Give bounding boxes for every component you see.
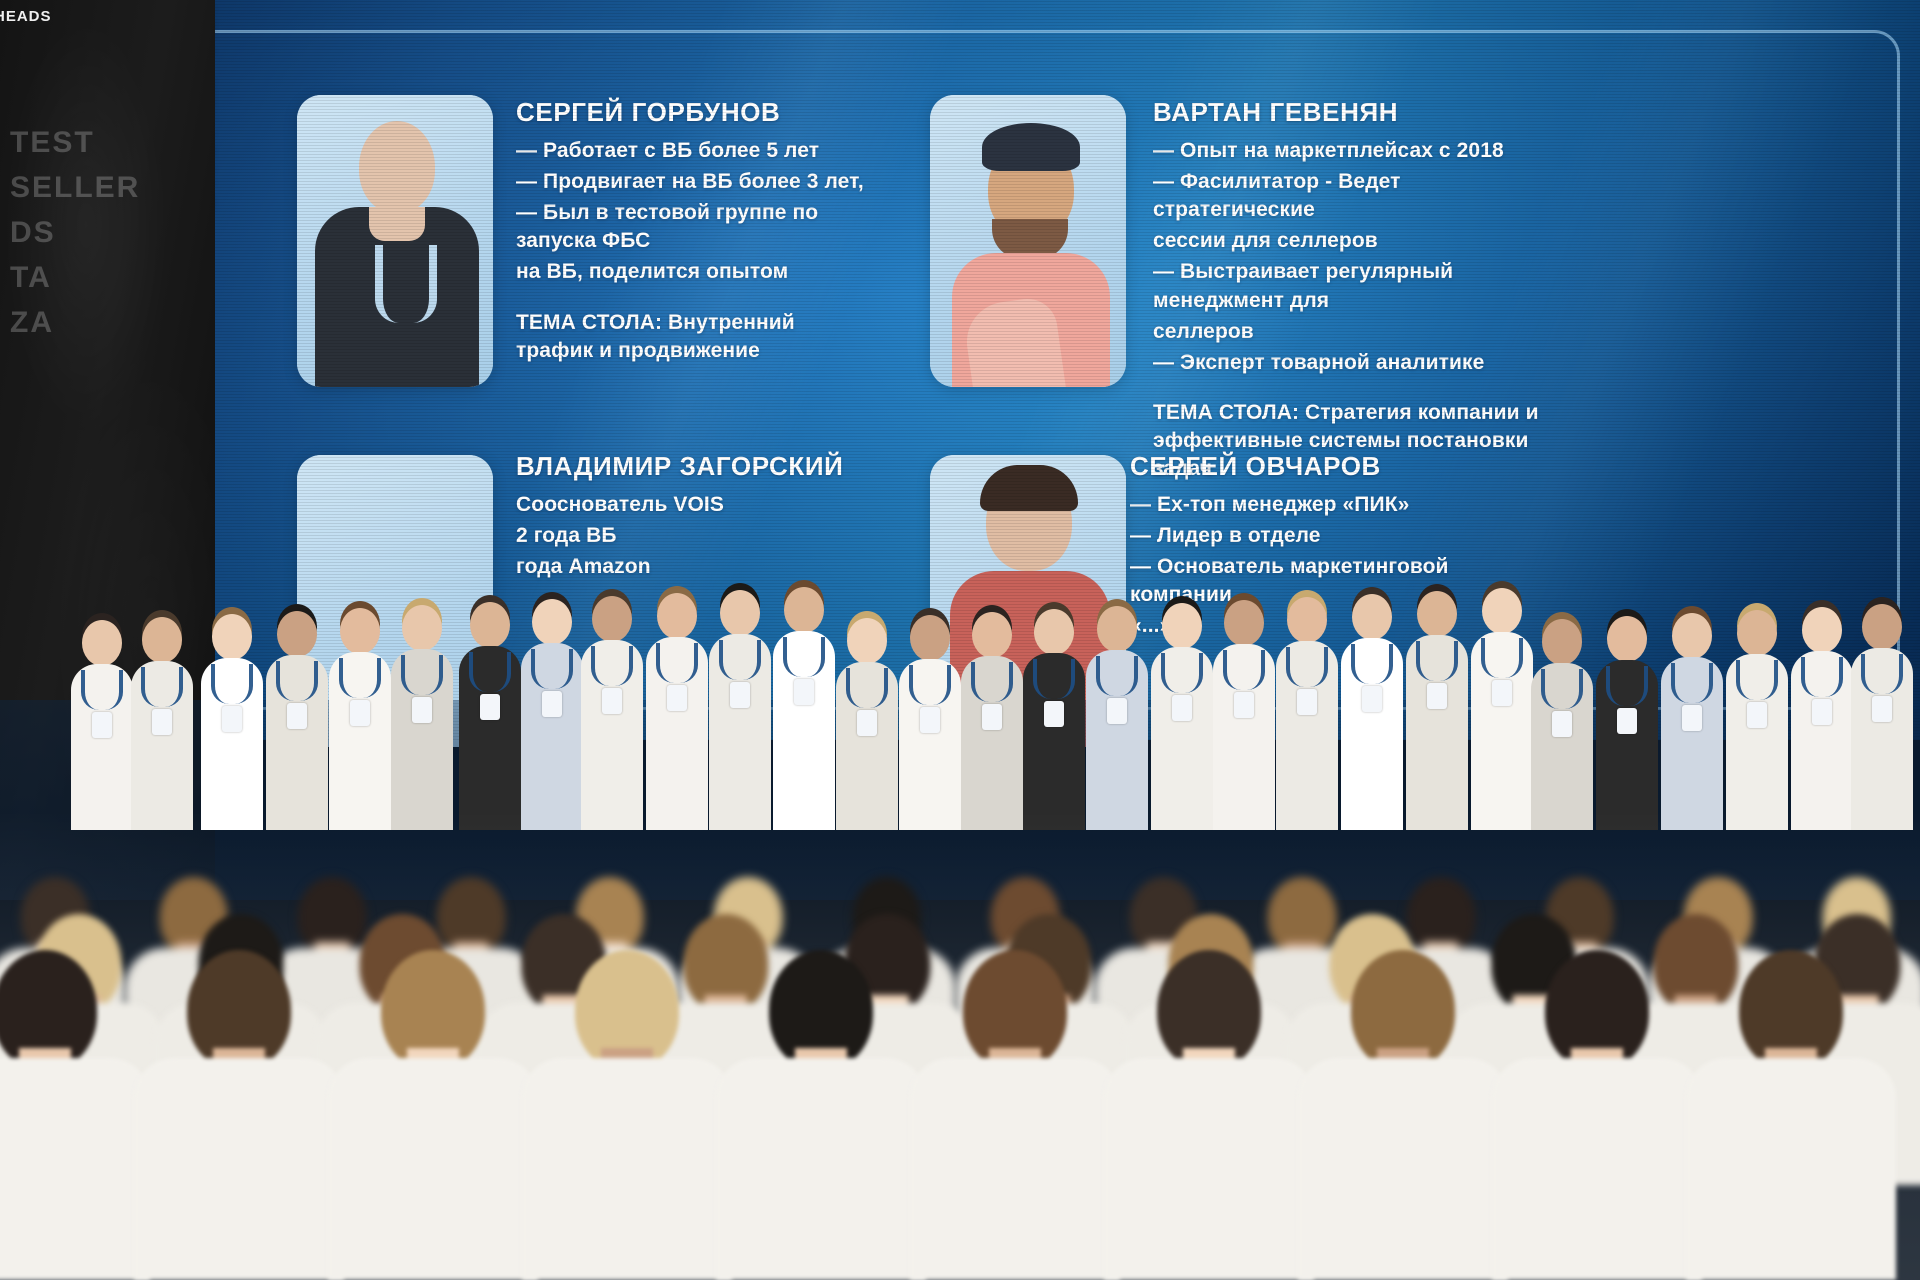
person-head xyxy=(1542,619,1582,665)
badge xyxy=(1427,683,1447,709)
lanyard xyxy=(81,670,123,710)
lanyard xyxy=(1286,647,1328,687)
lanyard xyxy=(719,640,761,680)
audience-person xyxy=(1492,950,1702,1280)
lanyard xyxy=(211,664,253,704)
lanyard xyxy=(531,649,573,689)
badge xyxy=(1492,680,1512,706)
badge xyxy=(602,688,622,714)
lanyard xyxy=(783,637,825,677)
badge xyxy=(730,682,750,708)
person-head xyxy=(1482,588,1522,634)
person-head xyxy=(1417,591,1457,637)
person-head xyxy=(212,614,252,660)
person-body xyxy=(1492,1058,1702,1280)
person-body xyxy=(716,1058,926,1280)
badge xyxy=(480,694,500,720)
badge xyxy=(542,691,562,717)
person-body xyxy=(1298,1058,1508,1280)
person-head xyxy=(82,620,122,666)
person-body xyxy=(0,1058,150,1280)
person-head xyxy=(532,599,572,645)
lanyard xyxy=(846,668,888,708)
lanyard xyxy=(276,661,318,701)
person-head xyxy=(720,590,760,636)
lanyard xyxy=(1736,660,1778,700)
audience-person xyxy=(328,950,538,1280)
lanyard xyxy=(141,667,183,707)
lanyard xyxy=(909,665,951,705)
lanyard xyxy=(591,646,633,686)
person-body xyxy=(522,1058,732,1280)
person-head xyxy=(470,602,510,648)
person-head xyxy=(847,618,887,664)
badge xyxy=(1234,692,1254,718)
person-head xyxy=(1034,609,1074,655)
person-head xyxy=(1162,603,1202,649)
lanyard xyxy=(469,652,511,692)
person-head xyxy=(277,611,317,657)
person-head xyxy=(657,593,697,639)
badge xyxy=(1362,686,1382,712)
person-head xyxy=(1097,606,1137,652)
person-body xyxy=(1686,1058,1896,1280)
person-head xyxy=(1802,607,1842,653)
person-body xyxy=(910,1058,1120,1280)
badge xyxy=(794,679,814,705)
lanyard xyxy=(1541,669,1583,709)
badge xyxy=(1172,695,1192,721)
lanyard xyxy=(1033,659,1075,699)
lanyard xyxy=(1161,653,1203,693)
wall-logo: HEADS xyxy=(0,8,52,25)
audience-person xyxy=(910,950,1120,1280)
person-head xyxy=(1737,610,1777,656)
lanyard xyxy=(401,655,443,695)
lanyard xyxy=(1416,641,1458,681)
audience-person xyxy=(0,950,150,1280)
person-body xyxy=(134,1058,344,1280)
badge xyxy=(1297,689,1317,715)
person-head xyxy=(1287,597,1327,643)
lanyard xyxy=(1671,663,1713,703)
audience-person xyxy=(134,950,344,1280)
person-head xyxy=(1224,600,1264,646)
audience-person xyxy=(1298,950,1508,1280)
lanyard xyxy=(656,643,698,683)
lanyard xyxy=(971,662,1013,702)
person-head xyxy=(1352,594,1392,640)
lanyard xyxy=(1223,650,1265,690)
person-body xyxy=(1104,1058,1314,1280)
person-head xyxy=(784,587,824,633)
lanyard xyxy=(1351,644,1393,684)
lanyard xyxy=(1096,656,1138,696)
person-head xyxy=(142,617,182,663)
audience-person xyxy=(1104,950,1314,1280)
person-head xyxy=(1862,604,1902,650)
person-head xyxy=(910,615,950,661)
badge xyxy=(667,685,687,711)
lanyard xyxy=(1861,654,1903,694)
person-body xyxy=(328,1058,538,1280)
audience-person xyxy=(716,950,926,1280)
audience-person xyxy=(1686,950,1896,1280)
person-head xyxy=(1672,613,1712,659)
lanyard xyxy=(1481,638,1523,678)
audience-rows xyxy=(0,720,1920,1280)
person-head xyxy=(402,605,442,651)
person-head xyxy=(972,612,1012,658)
conference-photo: ЭКСПЕРТЫ СЕРГЕЙ ГОРБУНОВ — Работает с ВБ… xyxy=(0,0,1920,1280)
person-head xyxy=(592,596,632,642)
badge xyxy=(1872,696,1892,722)
audience-person xyxy=(522,950,732,1280)
lanyard xyxy=(1606,666,1648,706)
person-head xyxy=(1607,616,1647,662)
lanyard xyxy=(339,658,381,698)
person-head xyxy=(340,608,380,654)
lanyard xyxy=(1801,657,1843,697)
